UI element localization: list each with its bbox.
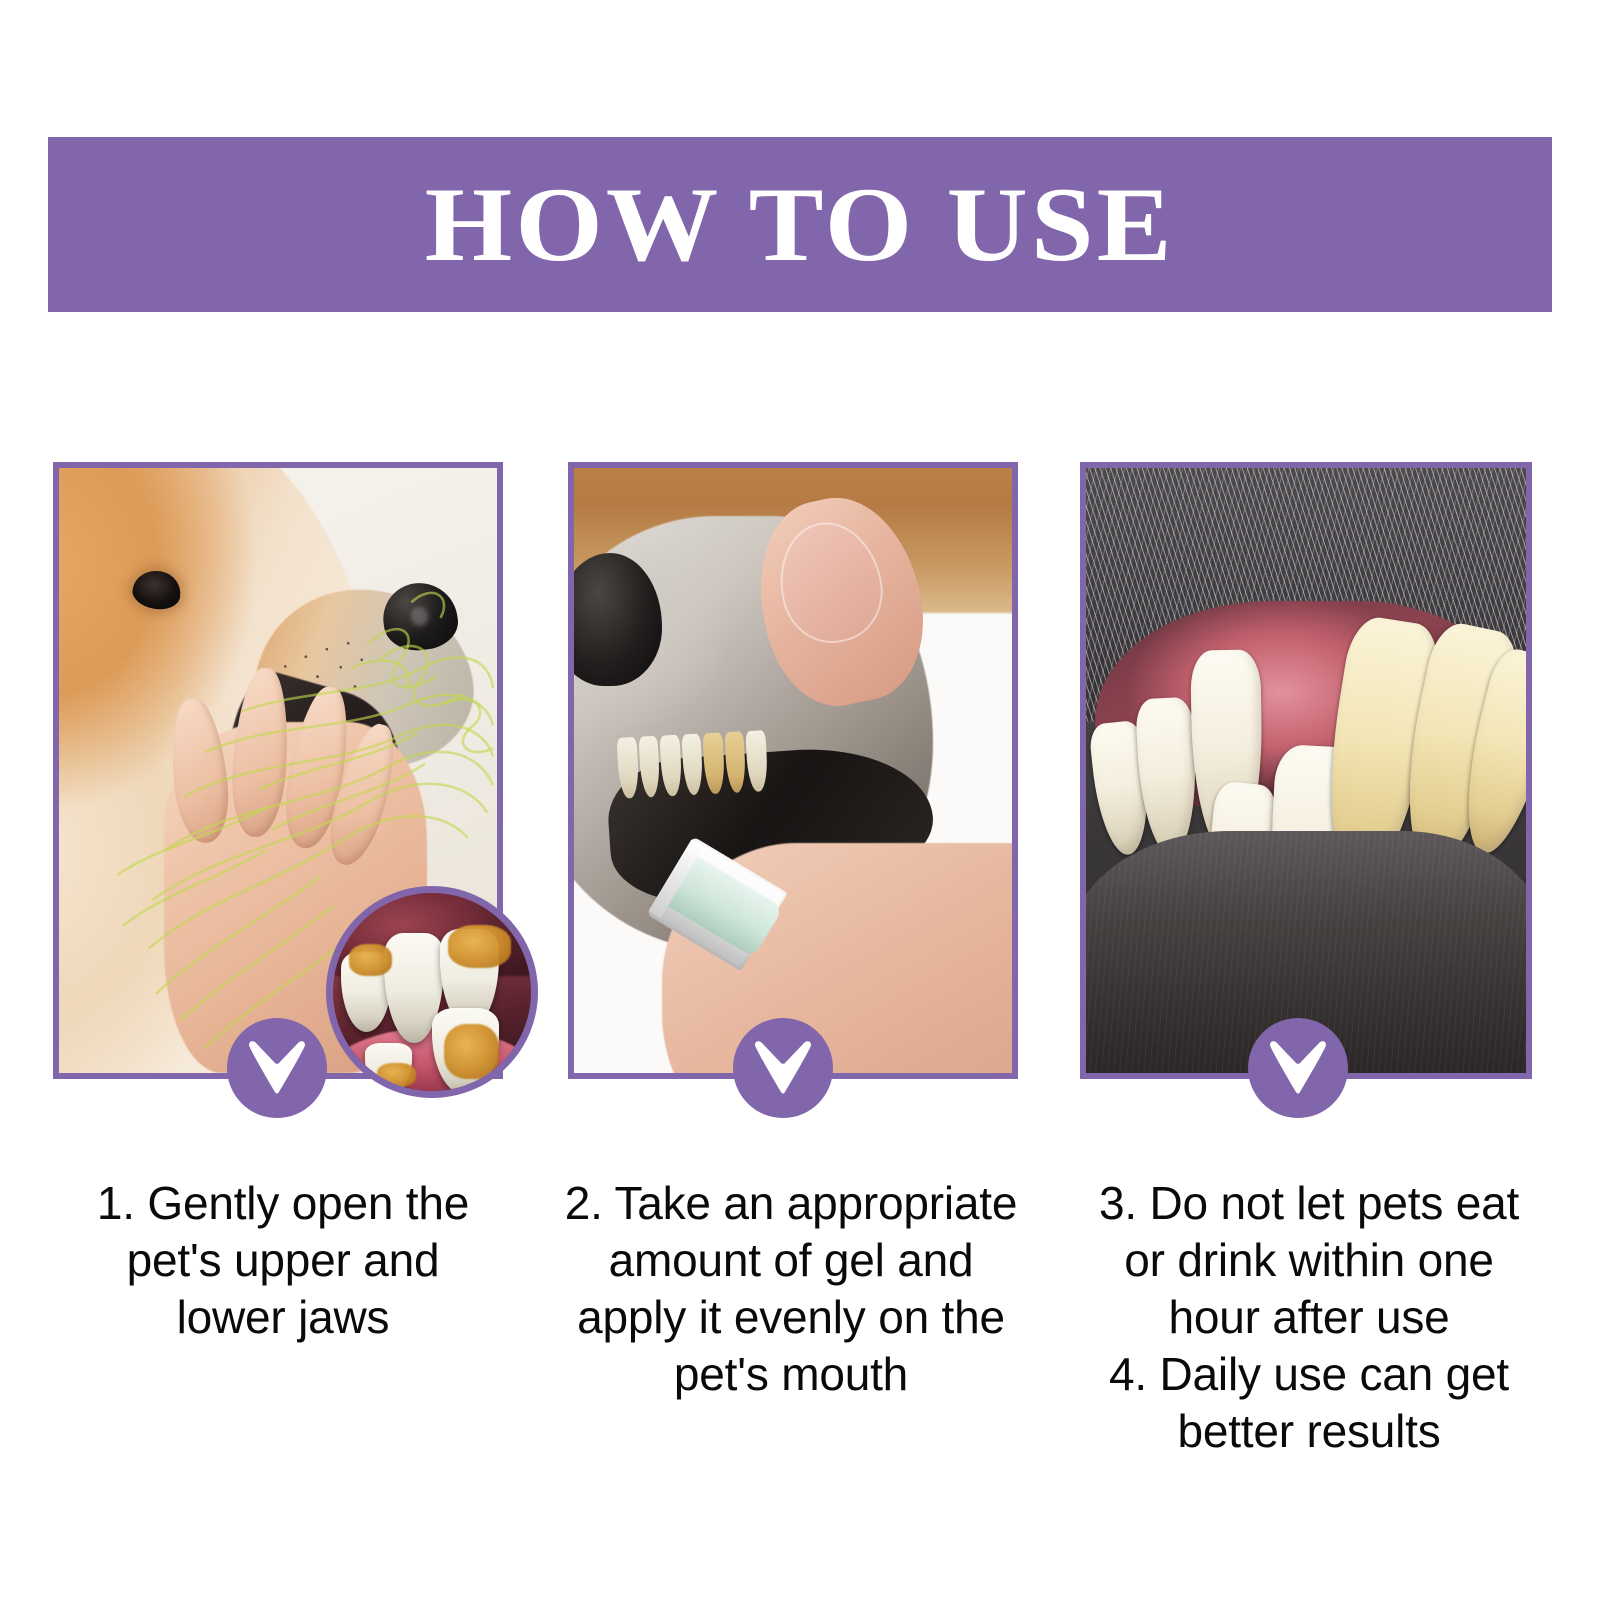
- caption-line: lower jaws: [48, 1289, 518, 1346]
- caption-line: 2. Take an appropriate: [556, 1175, 1026, 1232]
- step-3-chevron-badge: [1248, 1018, 1348, 1118]
- caption-line: better results: [1066, 1403, 1552, 1460]
- chevron-down-icon: [752, 1039, 814, 1097]
- chevron-down-icon: [246, 1039, 308, 1097]
- tartar-closeup-inset: [326, 886, 538, 1098]
- how-to-use-header-banner: HOW TO USE: [48, 137, 1552, 312]
- step-1-chevron-badge: [227, 1018, 327, 1118]
- caption-line: pet's upper and: [48, 1232, 518, 1289]
- caption-line: amount of gel and: [556, 1232, 1026, 1289]
- caption-line: apply it evenly on the: [556, 1289, 1026, 1346]
- step-2-image-panel: [568, 462, 1018, 1079]
- caption-line: 3. Do not let pets eat: [1066, 1175, 1552, 1232]
- caption-line: 4. Daily use can get: [1066, 1346, 1552, 1403]
- inset-tartar-buildup: [377, 1063, 417, 1087]
- caption-line: or drink within one: [1066, 1232, 1552, 1289]
- step-3-image: [1086, 468, 1526, 1073]
- page-title: HOW TO USE: [425, 172, 1175, 278]
- caption-line: pet's mouth: [556, 1346, 1026, 1403]
- caption-line: 1. Gently open the: [48, 1175, 518, 1232]
- step-1-image-panel: [53, 462, 503, 1079]
- steps-caption-row: 1. Gently open the pet's upper and lower…: [48, 1175, 1552, 1515]
- step-2-caption: 2. Take an appropriate amount of gel and…: [556, 1175, 1026, 1403]
- inset-tartar-buildup: [349, 944, 393, 976]
- step-3-image-panel: [1080, 462, 1532, 1079]
- applying-dental-gel-photo: [574, 468, 1012, 1073]
- step-3-caption: 3. Do not let pets eat or drink within o…: [1066, 1175, 1552, 1460]
- clean-dog-teeth-photo: [1086, 468, 1526, 1073]
- inset-tartar-buildup: [448, 925, 511, 969]
- steps-image-row: [53, 462, 1532, 1079]
- chevron-down-icon: [1267, 1039, 1329, 1097]
- inset-tartar-buildup: [444, 1024, 499, 1079]
- step-1-caption: 1. Gently open the pet's upper and lower…: [48, 1175, 518, 1346]
- step-2-chevron-badge: [733, 1018, 833, 1118]
- caption-line: hour after use: [1066, 1289, 1552, 1346]
- step-2-image: [574, 468, 1012, 1073]
- dog-teeth: [616, 730, 768, 798]
